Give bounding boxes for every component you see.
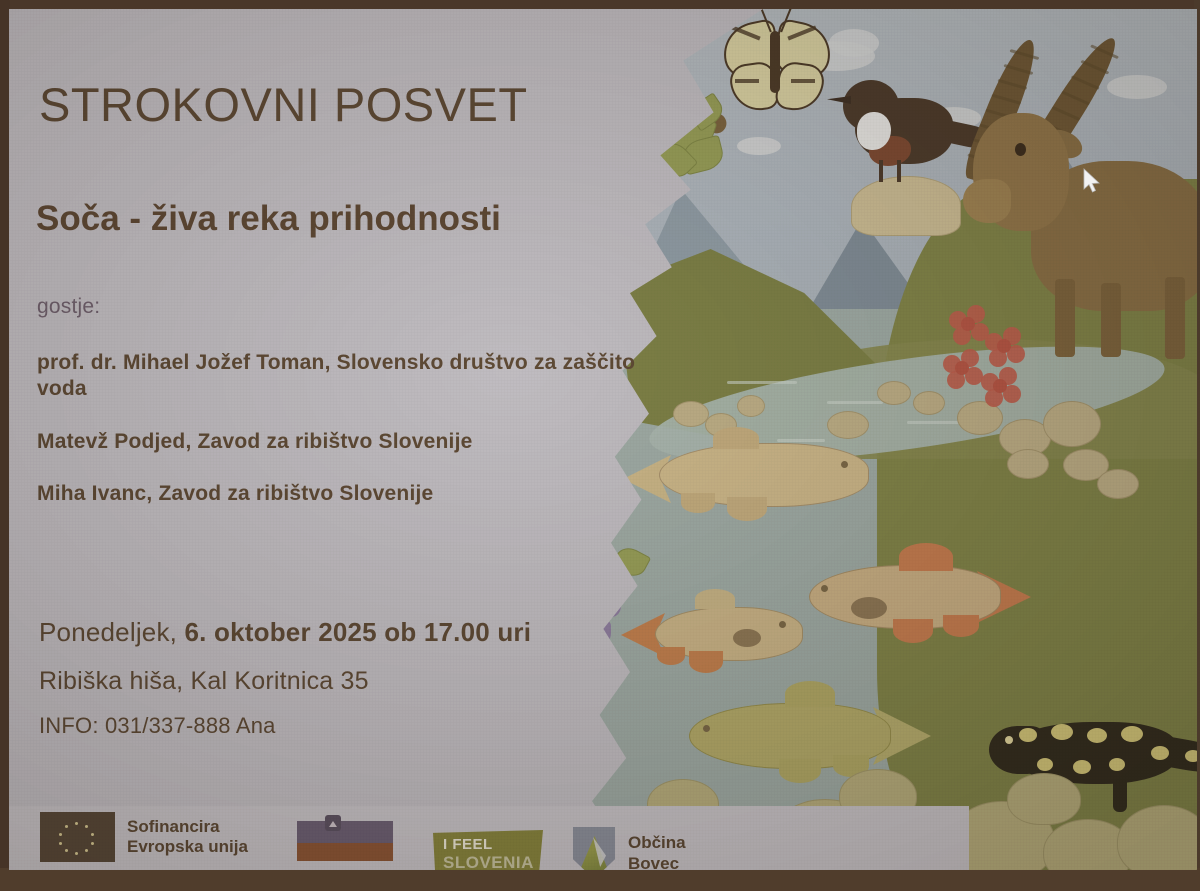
page-subtitle: Soča - živa reka prihodnosti <box>36 199 501 239</box>
bovec-coat-of-arms-icon <box>573 827 615 870</box>
fish-pelvic-fin <box>689 651 723 673</box>
salamander-spot <box>1121 726 1143 742</box>
i-feel-slovenia-badge: I FEEL SLOVENIA <box>433 830 543 870</box>
fish-spot <box>851 597 887 619</box>
logo-european-union: Sofinancira Evropska unija <box>40 812 248 862</box>
fish-pelvic-fin <box>727 497 767 521</box>
ibex-leg <box>1101 283 1121 357</box>
slide-canvas: STROKOVNI POSVET Soča - živa reka prihod… <box>9 9 1197 870</box>
river-rock <box>1043 401 1101 447</box>
logo-republic-of-slovenia <box>297 821 393 861</box>
bovec-label-line2: Bovec <box>628 853 686 870</box>
butterfly-body <box>770 31 780 93</box>
salamander-spot <box>1037 758 1053 771</box>
illustration-soca-river-scene <box>577 9 1197 870</box>
page-title: STROKOVNI POSVET <box>39 77 528 132</box>
ibex-leg <box>1055 279 1075 357</box>
water-ripple <box>727 381 797 384</box>
fish-pelvic-fin <box>893 619 933 643</box>
ifeel-line2: SLOVENIA <box>443 853 534 870</box>
salamander-eye <box>1005 736 1013 744</box>
fish-dorsal-fin <box>899 543 953 571</box>
bird-leg <box>897 160 901 182</box>
water-ripple <box>827 401 883 404</box>
fish-anal-fin <box>657 647 685 665</box>
eu-label: Sofinancira Evropska unija <box>127 817 248 857</box>
fish-grayling <box>795 553 1045 645</box>
eu-label-line2: Evropska unija <box>127 837 248 857</box>
ifeel-line1: I FEEL <box>443 836 493 853</box>
fish-dorsal-fin <box>713 427 759 449</box>
salamander-spot <box>1087 728 1107 743</box>
fish-eye <box>841 461 848 468</box>
guest-item: Miha Ivanc, Zavod za ribištvo Slovenije <box>37 481 433 507</box>
fish-eye <box>779 621 786 628</box>
ibex-eye <box>1015 143 1026 156</box>
event-venue: Ribiška hiša, Kal Koritnica 35 <box>39 667 369 696</box>
projected-slide-photo: STROKOVNI POSVET Soča - živa reka prihod… <box>0 0 1200 891</box>
river-rock <box>673 401 709 427</box>
bird-perch-rock <box>851 176 961 236</box>
river-rock <box>877 381 911 405</box>
fish-eye <box>703 725 710 732</box>
alpine-rose-flower <box>981 367 1021 407</box>
fish-anal-fin <box>681 493 715 513</box>
bird-leg <box>879 160 883 182</box>
slovenia-flag-icon <box>297 821 393 861</box>
guest-item: Matevž Podjed, Zavod za ribištvo Sloveni… <box>37 429 473 455</box>
fish-soca-trout <box>677 689 937 785</box>
fish-chub <box>627 597 817 677</box>
logo-i-feel-slovenia: I FEEL SLOVENIA <box>433 830 543 870</box>
eu-label-line1: Sofinancira <box>127 817 248 837</box>
river-rock <box>1097 469 1139 499</box>
salamander-spot <box>1019 728 1037 742</box>
salamander-spot <box>1073 760 1091 774</box>
mouse-cursor <box>1082 168 1102 196</box>
event-datetime: Ponedeljek, 6. oktober 2025 ob 17.00 uri <box>39 617 531 648</box>
river-rock <box>737 395 765 417</box>
fish-marble-trout <box>627 435 887 521</box>
logo-obcina-bovec: Občina Bovec <box>573 827 686 870</box>
salamander-spot <box>1185 750 1197 762</box>
ibex-muzzle <box>963 179 1011 223</box>
alpine-rose-flower <box>949 305 989 345</box>
ibex-leg <box>1165 277 1185 359</box>
river-rock <box>913 391 945 415</box>
alpine-rose-flower <box>985 327 1025 367</box>
alpine-rose-flower <box>943 349 983 389</box>
guest-item: prof. dr. Mihael Jožef Toman, Slovensko … <box>37 350 637 402</box>
event-day: Ponedeljek, <box>39 617 185 647</box>
fish-dorsal-fin <box>695 589 735 609</box>
butterfly-stripe <box>791 79 815 83</box>
fish-anal-fin <box>943 615 979 637</box>
fish-dorsal-fin <box>785 681 835 707</box>
salamander-spot <box>1051 724 1073 740</box>
bovec-label: Občina Bovec <box>628 832 686 870</box>
butterfly-wing <box>774 60 826 114</box>
bovec-label-line1: Občina <box>628 832 686 853</box>
fish-eye <box>821 585 828 592</box>
river-rock <box>1007 449 1049 479</box>
salamander-spot <box>1109 758 1125 771</box>
slovenia-crest-icon <box>325 815 341 831</box>
salamander-spot <box>1151 746 1169 760</box>
fish-pelvic-fin <box>779 759 821 783</box>
eu-flag-icon <box>40 812 115 862</box>
screen-frame-bottom <box>0 868 1200 891</box>
guests-label: gostje: <box>37 295 100 319</box>
event-date-bold: 6. oktober 2025 ob 17.00 uri <box>185 617 532 647</box>
event-info: INFO: 031/337-888 Ana <box>39 713 276 739</box>
alpine-ibex-icon <box>959 27 1197 327</box>
fish-spot <box>733 629 761 647</box>
